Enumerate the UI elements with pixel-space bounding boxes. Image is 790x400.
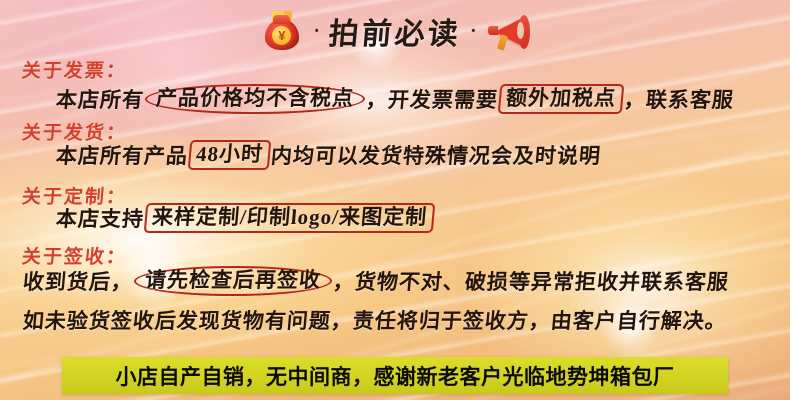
text-fragment: ，货物不对、破损等异常拒收并联系客服 bbox=[331, 266, 732, 296]
text-fragment: ，开发票需要 bbox=[364, 84, 501, 114]
title-dot-left: · bbox=[310, 20, 323, 43]
text-fragment: 本店所有 bbox=[54, 84, 147, 114]
disclaimer-text: 如未验货签收后发现货物有问题，责任将归于签收方，由客户自行解决。 bbox=[21, 305, 730, 335]
text-fragment: 本店所有产品 bbox=[54, 140, 191, 170]
footer-text: 小店自产自销，无中间商，感谢新老客户光临地势坤箱包厂 bbox=[116, 361, 675, 391]
section-line-invoice: 本店所有 产品价格均不含税点 ，开发票需要 额外加税点 ，联系客服 bbox=[54, 84, 737, 114]
section-line-shipping: 本店所有产品 48小时 内均可以发货特殊情况会及时说明 bbox=[54, 140, 604, 170]
poster-content: ¥ · 拍前必读 · 关于发票： 本店所有 产品价格均不含税点 ，开发票需要 额… bbox=[0, 0, 790, 400]
disclaimer-line: 如未验货签收后发现货物有问题，责任将归于签收方，由客户自行解决。 bbox=[21, 305, 730, 335]
highlight-box-48-hours: 48小时 bbox=[188, 140, 272, 170]
section-label-receiving: 关于签收： bbox=[21, 242, 128, 269]
highlight-box-custom-options: 来样定制/印制logo/来图定制 bbox=[144, 203, 436, 233]
title-dot-right: · bbox=[467, 20, 480, 43]
highlight-oval-inspect-first: 请先检查后再签收 bbox=[133, 266, 334, 296]
money-bag-neck bbox=[273, 15, 290, 24]
text-fragment: 收到货后， bbox=[21, 266, 136, 296]
section-label-invoice: 关于发票： bbox=[21, 56, 128, 83]
text-fragment: 本店支持 bbox=[54, 203, 147, 233]
section-line-receiving: 收到货后， 请先检查后再签收 ，货物不对、破损等异常拒收并联系客服 bbox=[21, 266, 732, 296]
highlight-box-extra-tax: 额外加税点 bbox=[498, 84, 625, 114]
text-fragment: ，联系客服 bbox=[622, 84, 737, 114]
promo-poster: ¥ · 拍前必读 · 关于发票： 本店所有 产品价格均不含税点 ，开发票需要 额… bbox=[0, 0, 790, 400]
megaphone-inner bbox=[517, 22, 524, 39]
text-fragment: 内均可以发货特殊情况会及时说明 bbox=[269, 140, 604, 170]
section-line-customization: 本店支持 来样定制/印制logo/来图定制 bbox=[54, 203, 436, 233]
footer-banner: 小店自产自销，无中间商，感谢新老客户光临地势坤箱包厂 bbox=[62, 357, 728, 394]
megaphone-icon bbox=[486, 9, 530, 53]
highlight-oval-no-tax: 产品价格均不含税点 bbox=[144, 84, 367, 114]
money-bag-icon: ¥ bbox=[260, 9, 304, 53]
page-title: 拍前必读 bbox=[327, 9, 463, 53]
poster-header: ¥ · 拍前必读 · bbox=[0, 4, 790, 58]
